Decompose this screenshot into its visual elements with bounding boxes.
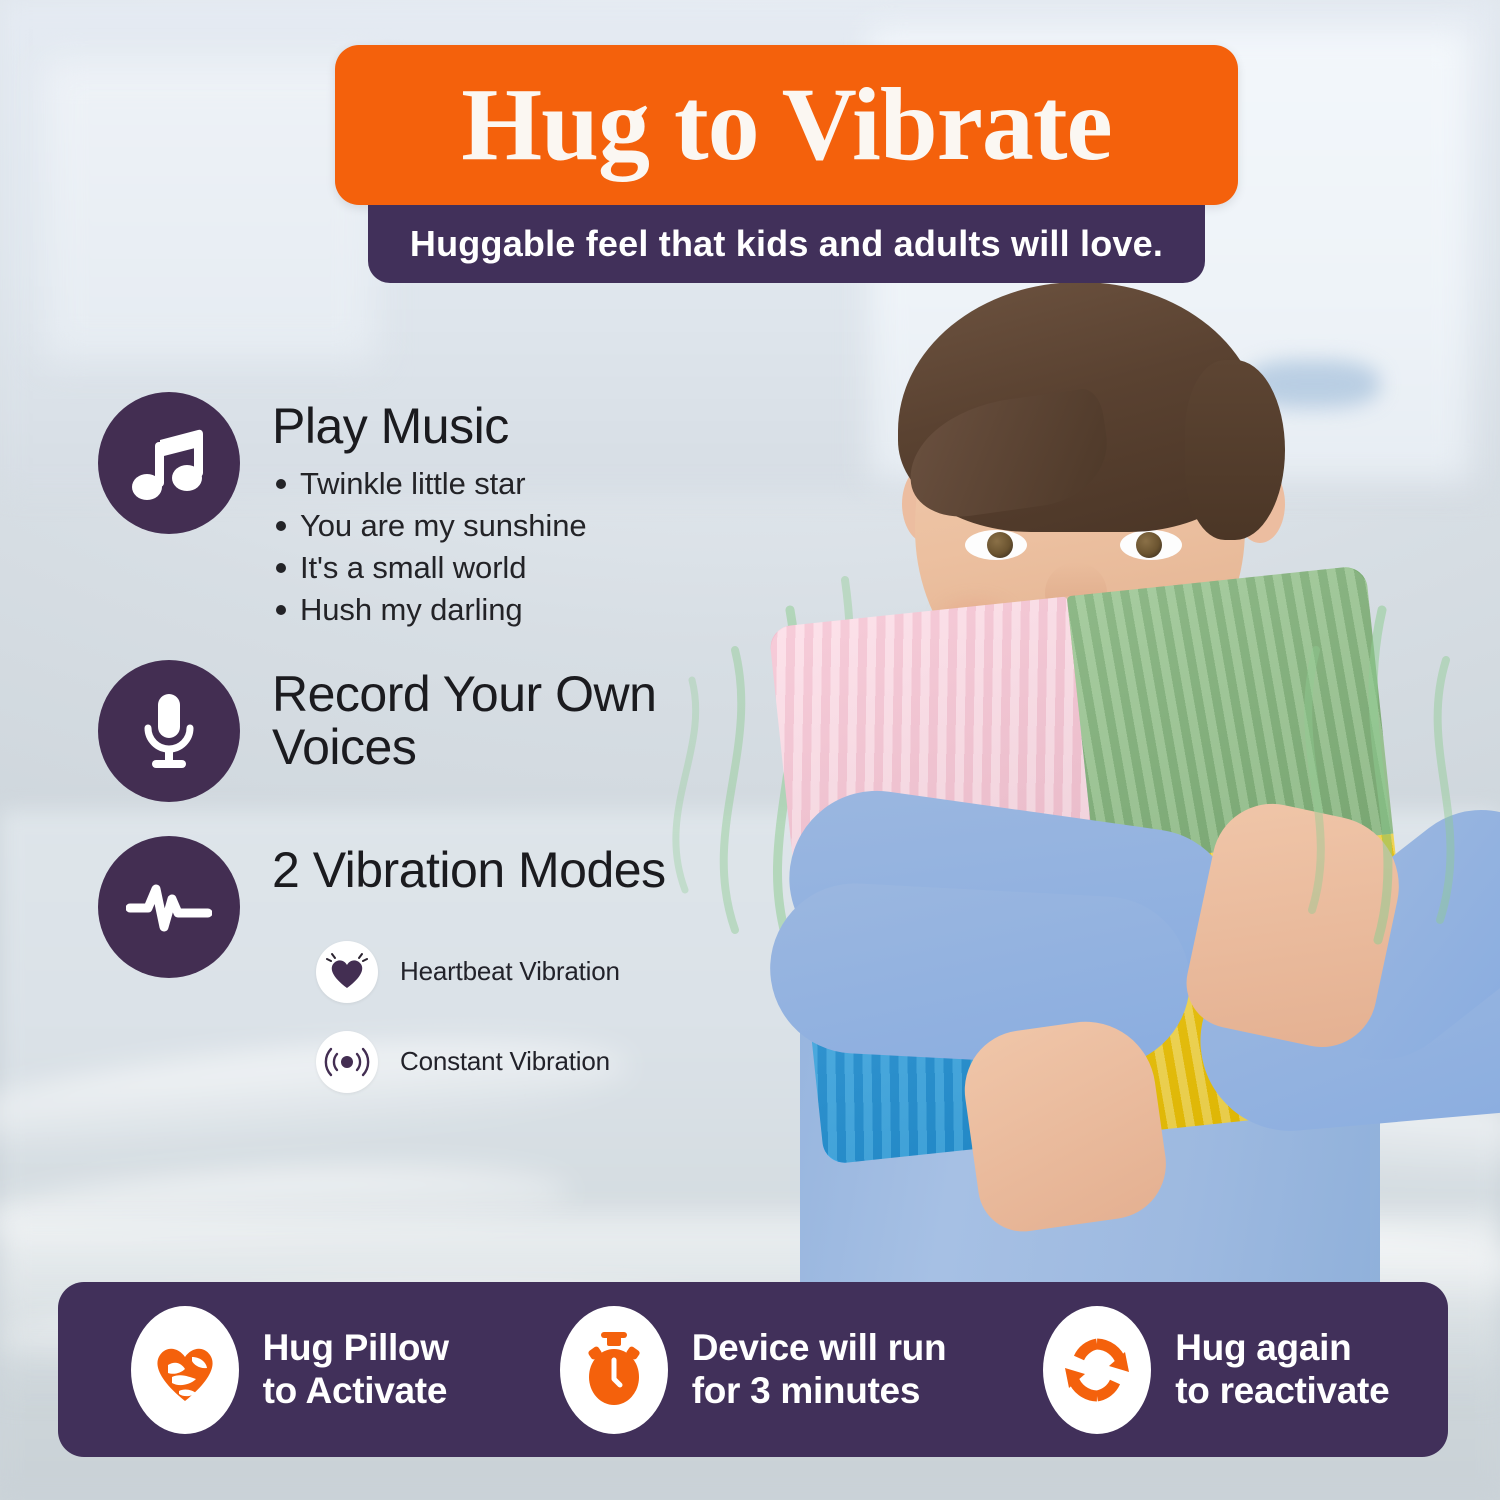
feature-body: Play Music Twinkle little star You are m… (272, 392, 586, 632)
vibration-mode-list: Heartbeat Vibration (316, 941, 666, 1093)
background-window-left (45, 60, 375, 360)
step-line-1: Device will run (692, 1327, 947, 1370)
boy-iris-left (987, 532, 1013, 558)
stopwatch-icon (560, 1306, 668, 1434)
infographic-page: Hug to Vibrate Huggable feel that kids a… (0, 0, 1500, 1500)
list-item: You are my sunshine (272, 505, 586, 547)
list-item: It's a small world (272, 547, 586, 589)
feature-list: Play Music Twinkle little star You are m… (98, 392, 718, 1121)
stopwatch-glyph (581, 1332, 647, 1408)
feature-heading: Record Your Own Voices (272, 668, 718, 774)
page-subtitle: Huggable feel that kids and adults will … (410, 223, 1163, 265)
feature-record-voices: Record Your Own Voices (98, 660, 718, 802)
list-item: Hush my darling (272, 589, 586, 631)
signal-waves-glyph (324, 1043, 370, 1081)
step-text: Hug Pillow to Activate (263, 1327, 449, 1413)
pulse-wave-icon (98, 836, 240, 978)
page-title: Hug to Vibrate (461, 73, 1111, 177)
step-line-1: Hug Pillow (263, 1327, 449, 1370)
hug-heart-glyph (148, 1335, 222, 1405)
microphone-glyph (136, 690, 202, 772)
subtitle-banner: Huggable feel that kids and adults will … (368, 205, 1205, 283)
step-hug-again: Hug again to reactivate (985, 1306, 1448, 1434)
step-text: Device will run for 3 minutes (692, 1327, 947, 1413)
heartbeat-icon (316, 941, 378, 1003)
steps-bar: Hug Pillow to Activate Device will run f… (58, 1282, 1448, 1457)
boy-eye-left (965, 530, 1027, 560)
signal-waves-icon (316, 1031, 378, 1093)
vibration-mode-label: Constant Vibration (400, 1046, 610, 1077)
step-device-run: Device will run for 3 minutes (521, 1306, 984, 1434)
list-item: Twinkle little star (272, 463, 586, 505)
microphone-icon (98, 660, 240, 802)
hug-heart-icon (131, 1306, 239, 1434)
refresh-cycle-icon (1043, 1306, 1151, 1434)
step-line-2: to Activate (263, 1370, 449, 1413)
feature-heading: Play Music (272, 400, 586, 453)
feature-body: Record Your Own Voices (272, 660, 718, 774)
vibration-mode-constant: Constant Vibration (316, 1031, 666, 1093)
feature-vibration-modes: 2 Vibration Modes Hear (98, 836, 718, 1121)
boy-hair-side (1185, 360, 1285, 540)
vibration-mode-heartbeat: Heartbeat Vibration (316, 941, 666, 1003)
refresh-cycle-glyph (1061, 1334, 1133, 1406)
step-hug-pillow: Hug Pillow to Activate (58, 1306, 521, 1434)
feature-heading: 2 Vibration Modes (272, 844, 666, 897)
vibration-mode-label: Heartbeat Vibration (400, 956, 620, 987)
product-photo (640, 250, 1500, 1360)
step-line-1: Hug again (1175, 1327, 1389, 1370)
step-line-2: to reactivate (1175, 1370, 1389, 1413)
music-note-glyph (132, 424, 206, 502)
pulse-wave-glyph (126, 879, 212, 935)
feature-play-music: Play Music Twinkle little star You are m… (98, 392, 718, 632)
song-list: Twinkle little star You are my sunshine … (272, 463, 586, 632)
boy-iris-right (1136, 532, 1162, 558)
boy-eye-right (1120, 530, 1182, 560)
heartbeat-glyph (326, 952, 368, 992)
feature-body: 2 Vibration Modes Hear (272, 836, 666, 1121)
step-text: Hug again to reactivate (1175, 1327, 1389, 1413)
title-banner: Hug to Vibrate (335, 45, 1238, 205)
step-line-2: for 3 minutes (692, 1370, 947, 1413)
music-note-icon (98, 392, 240, 534)
